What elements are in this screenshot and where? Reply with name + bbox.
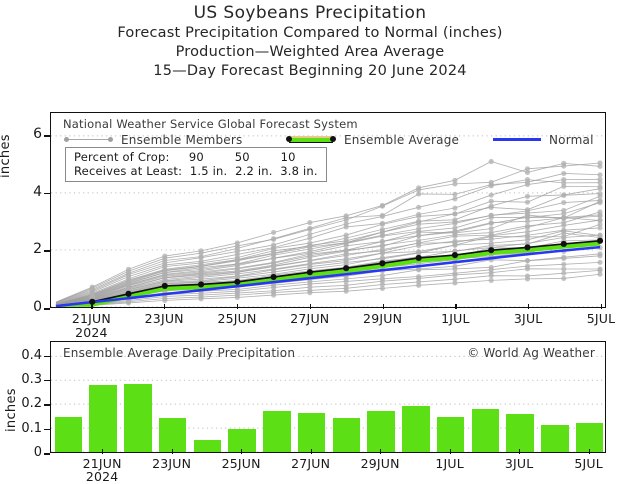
page-subtitle-1: Forecast Precipitation Compared to Norma… xyxy=(0,24,620,43)
bottom-x-tick-mark xyxy=(589,449,590,454)
top-x-tick-mark xyxy=(383,304,384,309)
percentile-row-amount: Receives at Least: 1.5 in. 2.2 in. 3.8 i… xyxy=(74,164,318,178)
daily-precip-bar xyxy=(263,411,291,452)
top-chart-legend: National Weather Service Global Forecast… xyxy=(63,117,595,148)
bottom-x-tick-label: 1JUL xyxy=(435,456,464,471)
bottom-x-tick-mark xyxy=(311,449,312,454)
bottom-x-tick-mark xyxy=(519,449,520,454)
top-x-axis-year: 2024 xyxy=(75,325,108,340)
bottom-y-tick-label: 0 xyxy=(12,445,42,460)
cumulative-precipitation-chart: National Weather Service Global Forecast… xyxy=(50,112,606,308)
top-x-tick-label: 5JUL xyxy=(587,311,616,326)
daily-precipitation-chart: Ensemble Average Daily Precipitation © W… xyxy=(50,341,606,453)
percentile-row-percent: Percent of Crop: 90 50 10 xyxy=(74,150,318,164)
top-y-tick-label: 2 xyxy=(16,241,42,257)
daily-precip-bar xyxy=(367,411,395,452)
top-x-tick-mark xyxy=(237,304,238,309)
bottom-y-tick-label: 0.4 xyxy=(12,348,42,363)
daily-precip-bar xyxy=(159,418,187,452)
top-x-tick-label: 29JUN xyxy=(363,311,402,326)
legend-row: Ensemble Members Ensemble Average Normal xyxy=(63,133,595,148)
daily-precip-bar xyxy=(124,384,152,452)
bottom-y-tick-label: 0.2 xyxy=(12,396,42,411)
top-y-tick-label: 0 xyxy=(16,299,42,315)
legend-model-title: National Weather Service Global Forecast… xyxy=(63,117,595,131)
daily-precip-bar xyxy=(89,385,117,452)
bottom-x-tick-mark xyxy=(380,449,381,454)
daily-precip-bar xyxy=(437,417,465,452)
legend-label-ensemble-average: Ensemble Average xyxy=(344,133,459,147)
bottom-x-tick-label: 29JUN xyxy=(361,456,400,471)
daily-precip-bar xyxy=(402,406,430,452)
bottom-x-tick-label: 27JUN xyxy=(291,456,330,471)
bottom-x-tick-mark xyxy=(102,449,103,454)
bottom-x-tick-mark xyxy=(450,449,451,454)
top-x-tick-mark xyxy=(164,304,165,309)
daily-precip-bar xyxy=(576,423,604,452)
bottom-x-tick-label: 23JUN xyxy=(152,456,191,471)
daily-precip-bar xyxy=(472,409,500,452)
ensemble-members-swatch-icon xyxy=(63,133,115,146)
top-x-tick-mark xyxy=(310,304,311,309)
page-title: US Soybeans Precipitation xyxy=(0,2,620,24)
daily-precip-bar xyxy=(298,413,326,452)
top-x-tick-label: 27JUN xyxy=(290,311,329,326)
top-x-tick-label: 3JUL xyxy=(514,311,543,326)
bottom-y-tick-label: 0.3 xyxy=(12,372,42,387)
top-x-tick-label: 1JUL xyxy=(441,311,470,326)
percentile-summary-box: Percent of Crop: 90 50 10 Receives at Le… xyxy=(65,147,327,182)
bottom-chart-x-axis: 21JUN202423JUN25JUN27JUN29JUN1JUL3JUL5JU… xyxy=(50,454,606,484)
top-x-tick-mark xyxy=(528,304,529,309)
bottom-x-tick-label: 25JUN xyxy=(222,456,261,471)
bottom-x-tick-mark xyxy=(172,449,173,454)
ensemble-average-swatch-icon xyxy=(285,133,337,146)
bar-group xyxy=(51,342,605,452)
top-x-tick-label: 21JUN xyxy=(72,311,111,326)
bottom-y-tick-label: 0.1 xyxy=(12,421,42,436)
top-x-tick-mark xyxy=(455,304,456,309)
daily-precip-bar xyxy=(333,418,361,452)
daily-precip-bar xyxy=(506,414,534,452)
top-y-tick-label: 6 xyxy=(16,126,42,142)
top-x-tick-mark xyxy=(601,304,602,309)
page-subtitle-2: Production—Weighted Area Average xyxy=(0,43,620,62)
top-y-tick-label: 4 xyxy=(16,184,42,200)
legend-label-ensemble-members: Ensemble Members xyxy=(121,133,242,147)
daily-precip-bar xyxy=(194,440,222,452)
bottom-x-tick-mark xyxy=(241,449,242,454)
daily-precip-bar xyxy=(541,425,569,453)
daily-precip-bar xyxy=(55,417,83,452)
top-x-tick-mark xyxy=(91,304,92,309)
legend-label-normal: Normal xyxy=(549,133,594,147)
top-x-tick-label: 25JUN xyxy=(217,311,256,326)
bottom-x-tick-label: 5JUL xyxy=(574,456,603,471)
bottom-x-tick-label: 3JUL xyxy=(505,456,534,471)
normal-swatch-icon xyxy=(491,133,543,146)
top-chart-x-axis: 21JUN202423JUN25JUN27JUN29JUN1JUL3JUL5JU… xyxy=(50,309,606,339)
top-x-tick-label: 23JUN xyxy=(145,311,184,326)
page-title-block: US Soybeans Precipitation Forecast Preci… xyxy=(0,2,620,81)
page-subtitle-3: 15—Day Forecast Beginning 20 June 2024 xyxy=(0,62,620,81)
top-chart-y-axis-label: inches xyxy=(0,134,13,178)
